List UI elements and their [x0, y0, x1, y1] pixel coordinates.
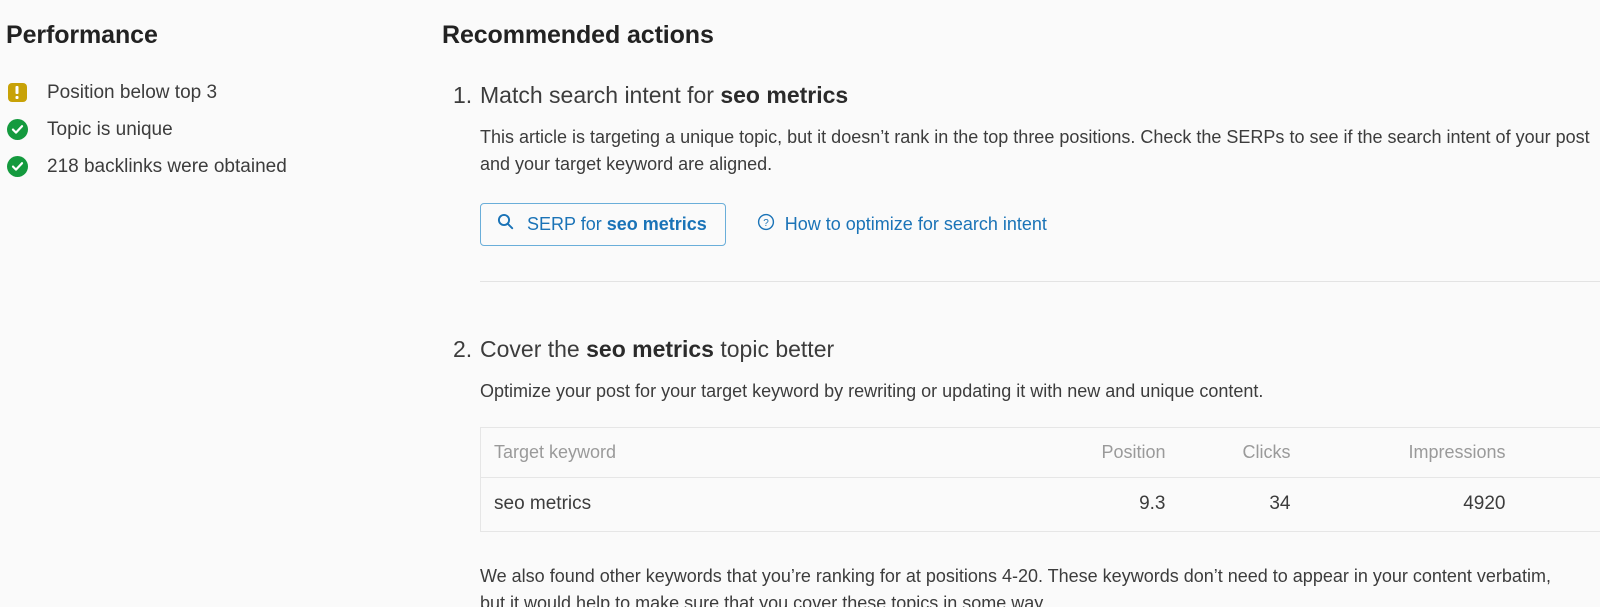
table-row: seo metrics 9.3 34 4920 — [481, 477, 1600, 531]
action-heading-suffix: topic better — [714, 336, 834, 362]
cell-clicks: 34 — [1166, 477, 1291, 531]
cell-target-keyword: seo metrics — [481, 477, 1021, 531]
keywords-table-body: seo metrics 9.3 34 4920 — [481, 477, 1600, 531]
column-header-position[interactable]: Position — [1021, 427, 1166, 477]
table-header-row: Target keyword Position Clicks Impressio… — [481, 427, 1600, 477]
recommended-actions-panel: Recommended actions 1. Match search inte… — [442, 0, 1600, 607]
column-header-spacer — [1506, 427, 1600, 477]
how-to-optimize-link[interactable]: ? How to optimize for search intent — [757, 213, 1047, 236]
seo-audit-panel: Performance Position below top 3 Topic i… — [0, 0, 1600, 607]
keywords-table: Target keyword Position Clicks Impressio… — [480, 427, 1600, 532]
svg-text:?: ? — [763, 217, 769, 228]
serp-for-keyword-button[interactable]: SERP for seo metrics — [480, 203, 726, 246]
question-circle-icon: ? — [757, 213, 775, 236]
keywords-table-head: Target keyword Position Clicks Impressio… — [481, 427, 1600, 477]
section-spacer — [442, 282, 1600, 334]
check-circle-icon — [6, 118, 28, 140]
column-header-clicks[interactable]: Clicks — [1166, 427, 1291, 477]
action-item-1: 1. Match search intent for seo metrics T… — [442, 80, 1600, 246]
serp-button-prefix: SERP for — [527, 214, 607, 234]
performance-item-backlinks: 218 backlinks were obtained — [6, 148, 442, 185]
action-heading: Match search intent for seo metrics — [480, 80, 1600, 110]
serp-button-label: SERP for seo metrics — [527, 214, 707, 235]
cell-spacer — [1506, 477, 1600, 531]
warning-icon — [6, 81, 28, 103]
other-keywords-note: We also found other keywords that you’re… — [480, 563, 1560, 607]
performance-item-topic: Topic is unique — [6, 111, 442, 148]
action-number: 2. — [453, 334, 472, 364]
action-buttons-row: SERP for seo metrics ? How to optimize f… — [480, 203, 1600, 246]
column-header-impressions[interactable]: Impressions — [1291, 427, 1506, 477]
action-heading-keyword: seo metrics — [586, 336, 714, 362]
performance-list: Position below top 3 Topic is unique — [6, 74, 442, 185]
performance-title: Performance — [6, 22, 442, 50]
action-item-2: 2. Cover the seo metrics topic better Op… — [442, 334, 1600, 607]
serp-button-keyword: seo metrics — [607, 214, 707, 234]
check-circle-icon — [6, 155, 28, 177]
performance-panel: Performance Position below top 3 Topic i… — [0, 0, 442, 185]
cell-position: 9.3 — [1021, 477, 1166, 531]
action-description: This article is targeting a unique topic… — [480, 124, 1598, 178]
action-heading-prefix: Cover the — [480, 336, 586, 362]
performance-item-label: Topic is unique — [47, 120, 173, 139]
action-heading-keyword: seo metrics — [720, 82, 848, 108]
how-to-optimize-label: How to optimize for search intent — [785, 214, 1047, 235]
performance-item-label: Position below top 3 — [47, 83, 217, 102]
action-heading-prefix: Match search intent for — [480, 82, 720, 108]
cell-impressions: 4920 — [1291, 477, 1506, 531]
action-number: 1. — [453, 80, 472, 110]
column-header-target-keyword[interactable]: Target keyword — [481, 427, 1021, 477]
action-heading: Cover the seo metrics topic better — [480, 334, 1600, 364]
recommended-actions-title: Recommended actions — [442, 22, 1600, 50]
action-description: Optimize your post for your target keywo… — [480, 378, 1598, 405]
search-icon — [497, 213, 514, 235]
performance-item-label: 218 backlinks were obtained — [47, 157, 287, 176]
performance-item-position: Position below top 3 — [6, 74, 442, 111]
